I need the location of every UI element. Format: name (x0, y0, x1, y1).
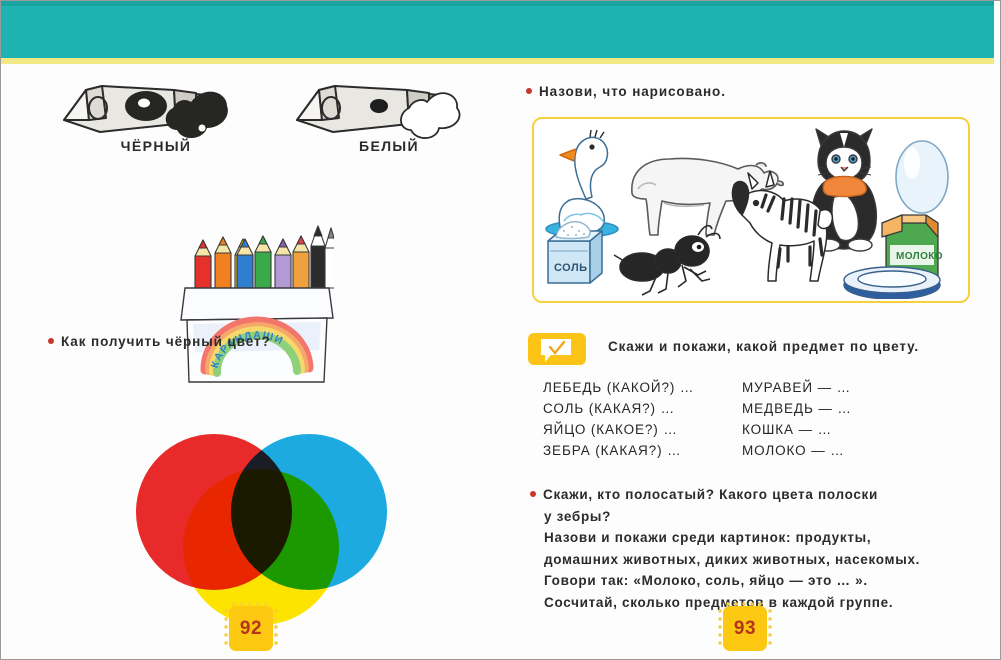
page-badge-plate: 93 (723, 606, 767, 651)
page-number-badge-right: 93 (717, 601, 773, 651)
task3-line-5: Говори так: «Молоко, соль, яйцо — это … … (530, 570, 970, 592)
task3-line-2: у зебры? (530, 506, 970, 528)
left-page-question: Как получить чёрный цвет? (48, 334, 271, 349)
ant-illustration (614, 226, 720, 295)
workbook-spread: ЧЁРНЫЙ БЕЛЫЙ (0, 0, 1001, 660)
list-item: ЛЕБЕДЬ (КАКОЙ?) … (543, 377, 694, 398)
paint-tube-white-group: БЕЛЫЙ (289, 76, 479, 156)
task1-prompt-text: Назови, что нарисовано. (539, 84, 726, 99)
left-page-question-text: Как получить чёрный цвет? (61, 334, 271, 349)
colored-pencils-box-icon: КАРАНДАШИ (179, 222, 334, 387)
list-item: ЯЙЦО (КАКОЕ?) … (543, 419, 694, 440)
egg-illustration (896, 141, 948, 213)
list-item: ЗЕБРА (КАКАЯ?) … (543, 440, 694, 461)
zebra-illustration (732, 171, 832, 281)
bullet-icon (526, 88, 532, 94)
picture-frame: СОЛЬ (532, 117, 970, 303)
task3-line-1: Скажи, кто полосатый? Какого цвета полос… (530, 484, 970, 506)
speech-bubble-check-icon (539, 337, 573, 363)
task2-prompt-text: Скажи и покажи, какой предмет по цвету. (608, 339, 919, 354)
salt-box-text: СОЛЬ (554, 262, 588, 274)
list-item: МУРАВЕЙ — … (742, 377, 852, 398)
color-mixing-venn-diagram (119, 432, 404, 624)
task2-column-left: ЛЕБЕДЬ (КАКОЙ?) … СОЛЬ (КАКАЯ?) … ЯЙЦО (… (543, 377, 694, 461)
task2-prompt: Скажи и покажи, какой предмет по цвету. (608, 339, 919, 354)
bullet-icon (48, 338, 54, 344)
right-page: Назови, что нарисовано. (501, 64, 996, 660)
list-item: МОЛОКО — … (742, 440, 852, 461)
swan-illustration (546, 130, 618, 237)
bullet-icon (530, 491, 536, 497)
task3-paragraph: Скажи, кто полосатый? Какого цвета полос… (530, 484, 970, 613)
task3-line-3: Назови и покажи среди картинок: продукты… (530, 527, 970, 549)
page-badge-plate: 92 (229, 606, 273, 651)
left-page: ЧЁРНЫЙ БЕЛЫЙ (1, 64, 501, 660)
task3-line-4: домашних животных, диких животных, насек… (530, 549, 970, 571)
paint-tube-black-group: ЧЁРНЫЙ (56, 76, 246, 156)
milk-carton-text: МОЛОКО (896, 251, 943, 262)
task2-column-right: МУРАВЕЙ — … МЕДВЕДЬ — … КОШКА — … МОЛОКО… (742, 377, 852, 461)
header-teal-band (1, 1, 996, 58)
list-item: МЕДВЕДЬ — … (742, 398, 852, 419)
list-item: КОШКА — … (742, 419, 852, 440)
page-number-right: 93 (734, 618, 756, 640)
paint-tube-white-label: БЕЛЫЙ (314, 138, 464, 154)
page-number-badge-left: 92 (223, 601, 279, 651)
task1-prompt: Назови, что нарисовано. (526, 84, 726, 99)
header-teal-band-shade (1, 1, 996, 6)
speech-bubble-check-tag[interactable] (528, 333, 586, 365)
list-item: СОЛЬ (КАКАЯ?) … (543, 398, 694, 419)
paint-tube-black-label: ЧЁРНЫЙ (81, 138, 231, 154)
page-number-left: 92 (240, 618, 262, 640)
milk-plate-illustration (844, 267, 940, 299)
